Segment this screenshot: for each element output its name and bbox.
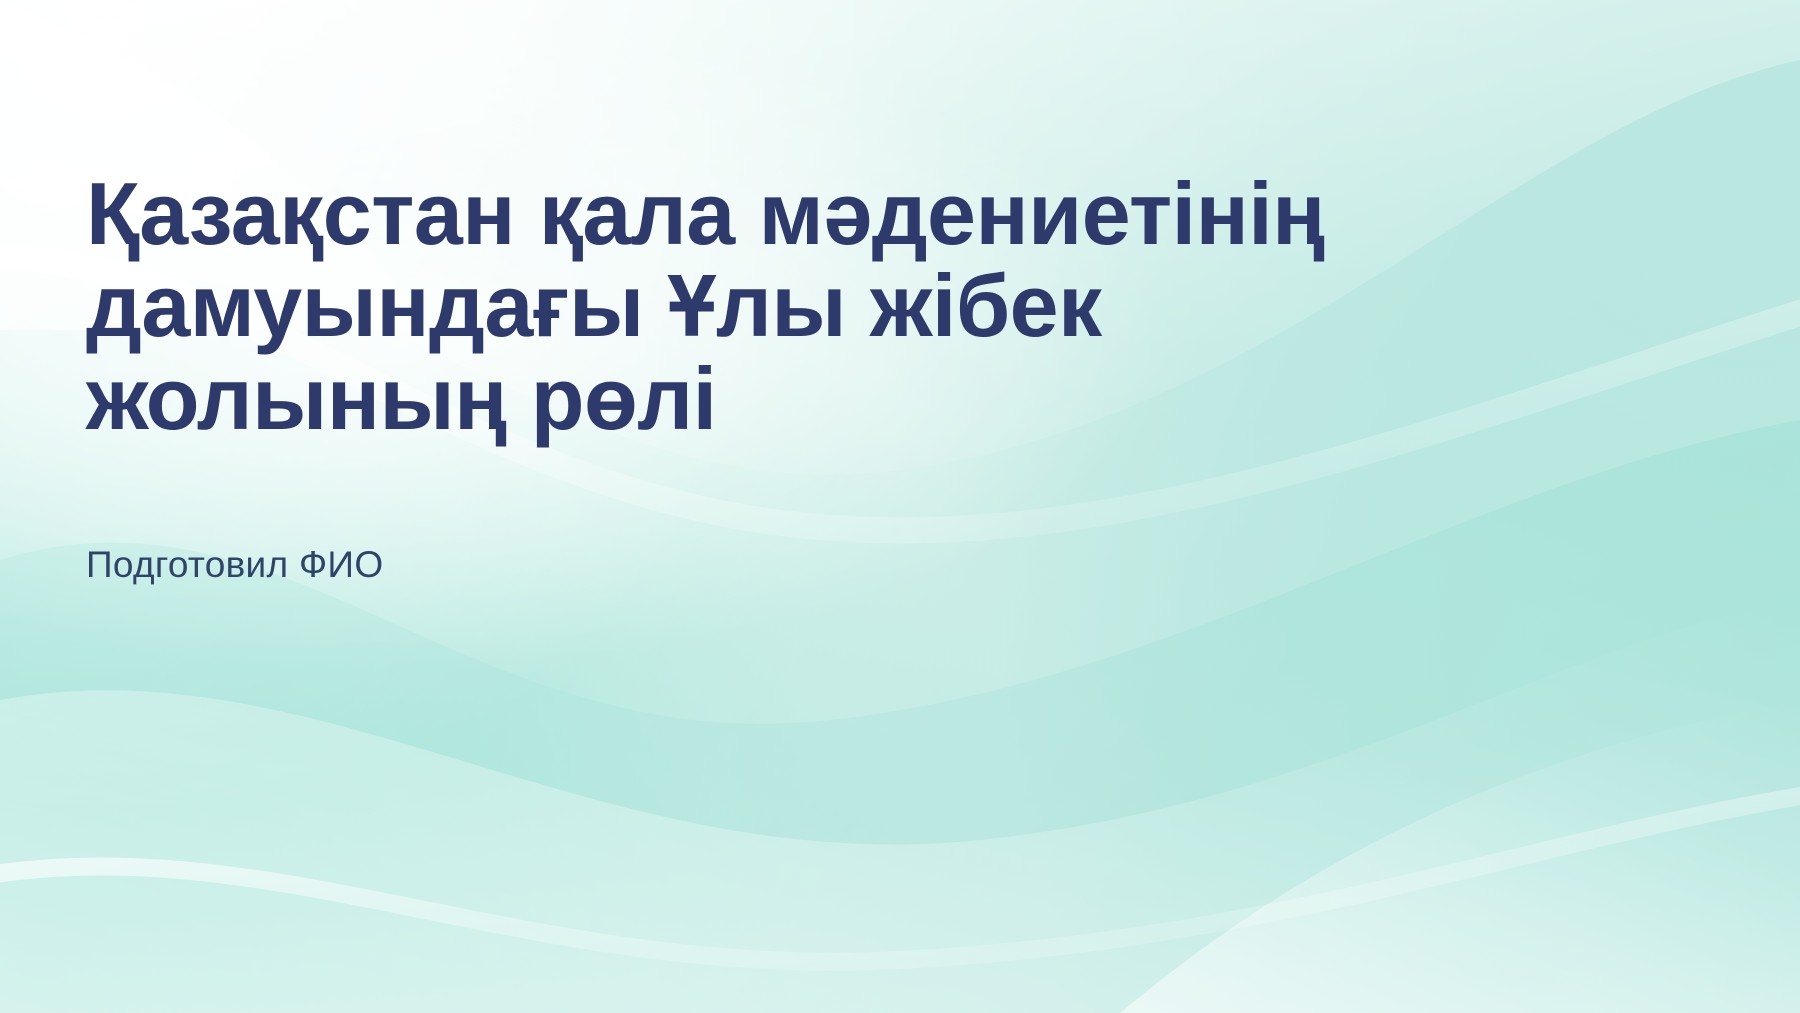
page-title: Қазақстан қала мәдениетінің дамуындағы Ұ… [86,168,1426,445]
slide-content: Қазақстан қала мәдениетінің дамуындағы Ұ… [86,168,1486,588]
presentation-slide: Қазақстан қала мәдениетінің дамуындағы Ұ… [0,0,1800,1013]
slide-subtitle-author: Подготовил ФИО [86,445,1486,587]
